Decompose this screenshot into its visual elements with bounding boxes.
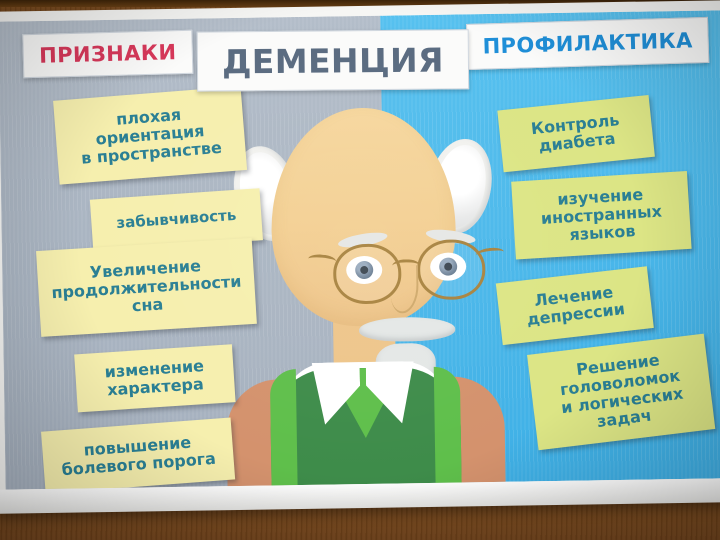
screenshot-stage: ПРИЗНАКИ ДЕМЕНЦИЯ ПРОФИЛАКТИКА плохая ор…: [0, 0, 720, 540]
header-prevention: ПРОФИЛАКТИКА: [466, 17, 709, 70]
mustache: [359, 317, 455, 343]
prevention-note-foreign-languages: изучение иностранных языков: [511, 171, 691, 260]
vest-highlight-left: [270, 369, 298, 490]
vest-highlight-right: [434, 366, 462, 489]
sign-note-spatial-orientation: плохая ориентация в пространстве: [53, 86, 247, 184]
header-signs: ПРИЗНАКИ: [22, 30, 193, 78]
eyeglasses-lens-right: [417, 239, 486, 300]
sign-note-personality-change: изменение характера: [74, 344, 235, 412]
eyeglasses-temple-left: [308, 253, 337, 266]
sign-note-longer-sleep: Увеличение продолжительности сна: [36, 238, 257, 337]
elderly-man-illustration: [228, 98, 500, 490]
poster-artwork: ПРИЗНАКИ ДЕМЕНЦИЯ ПРОФИЛАКТИКА плохая ор…: [0, 10, 720, 489]
paper-sheet: ПРИЗНАКИ ДЕМЕНЦИЯ ПРОФИЛАКТИКА плохая ор…: [0, 0, 720, 512]
poster-title: ДЕМЕНЦИЯ: [197, 29, 470, 91]
nose: [390, 265, 419, 313]
head: [270, 107, 457, 328]
torso: [226, 360, 506, 490]
